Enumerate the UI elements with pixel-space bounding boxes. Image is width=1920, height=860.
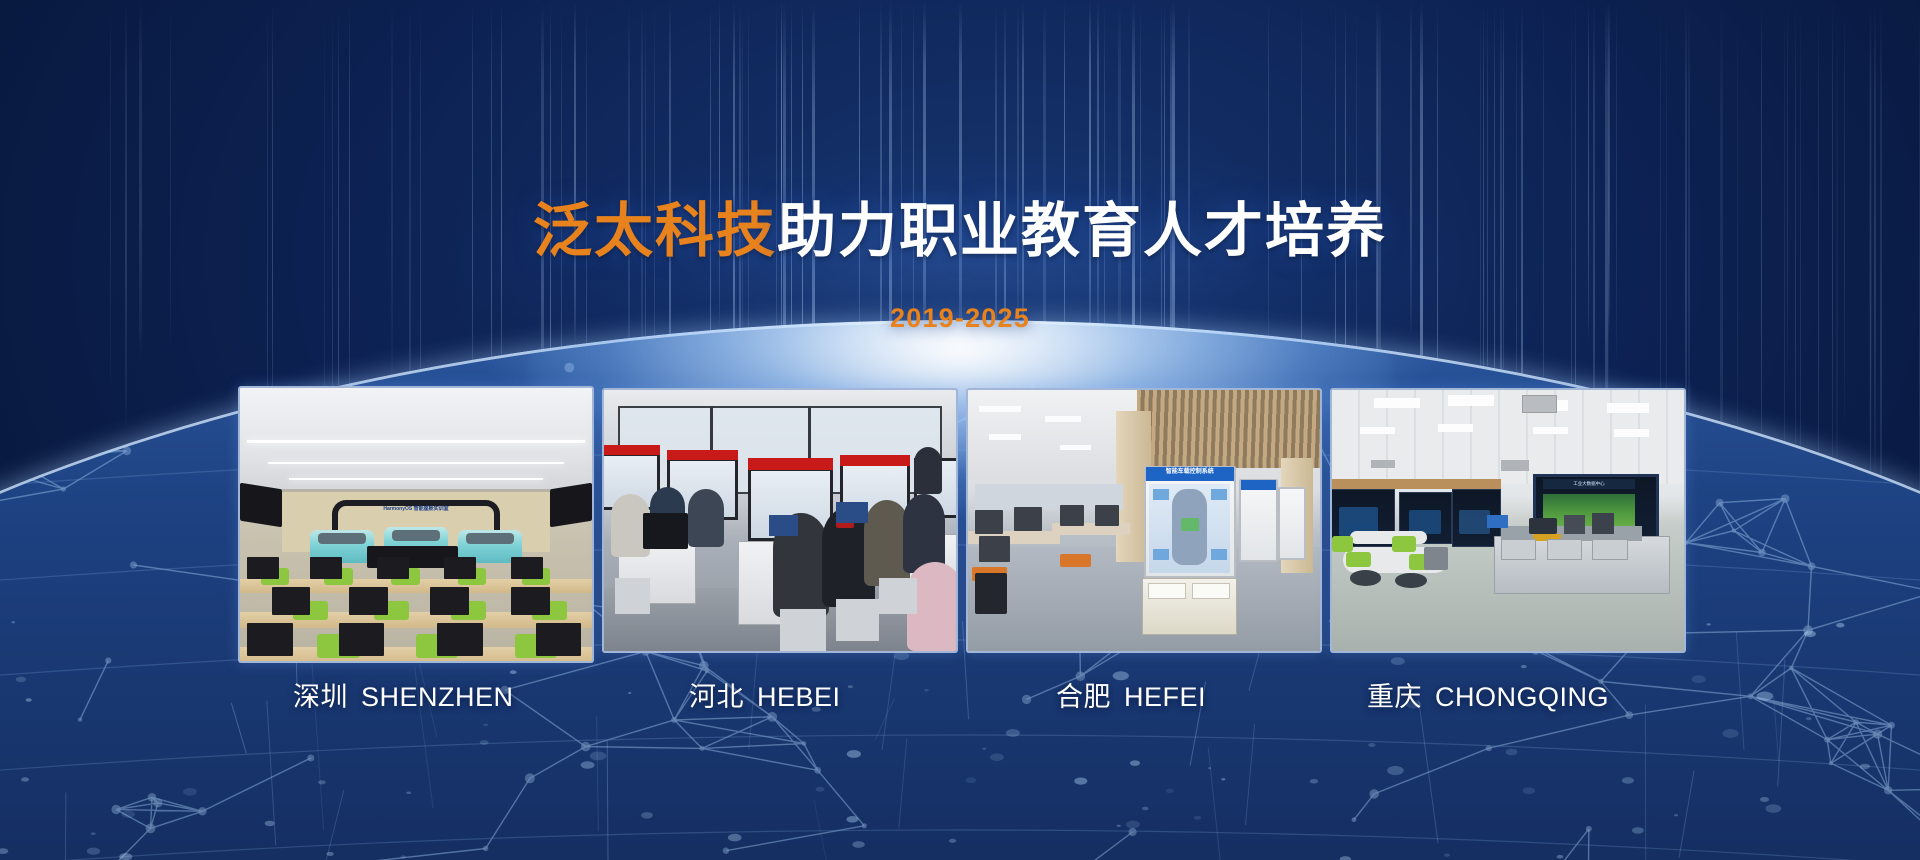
caption-hebei-en: HEBEI [757,682,841,712]
caption-hefei-en: HEFEI [1124,682,1206,712]
photo-chongqing-sign: 工业大数据中心 [1543,479,1635,489]
photo-hefei-sign: 智能车载控制系统 [1146,467,1234,481]
gallery-photo-card-shenzhen[interactable]: HarmonyOS 智能座舱实训室 [238,386,594,663]
title-brand: 泛太科技 [533,198,777,264]
page-title: 泛太科技助力职业教育人才培养 [0,202,1920,261]
caption-chongqing: 重庆CHONGQING [1367,675,1609,714]
banner-content: 泛太科技助力职业教育人才培养 2019-2025 HarmonyOS 智能座舱实… [0,0,1920,860]
photo-shenzhen: HarmonyOS 智能座舱实训室 [240,388,592,661]
title-rest: 助力职业教育人才培养 [777,198,1387,264]
photo-hebei [604,390,956,651]
gallery-photo-card-chongqing[interactable]: 工业大数据中心 [1330,388,1686,653]
photo-chongqing: 工业大数据中心 [1332,390,1684,651]
caption-shenzhen-zh: 深圳 [293,682,348,712]
caption-chongqing-zh: 重庆 [1367,682,1422,712]
caption-hefei-zh: 合肥 [1056,682,1111,712]
gallery-captions: 深圳SHENZHEN 河北HEBEI 合肥HEFEI 重庆CHONGQING [0,675,1920,719]
banner-stage: 泛太科技助力职业教育人才培养 2019-2025 HarmonyOS 智能座舱实… [0,0,1920,860]
photo-hefei: 智能车载控制系统 [968,390,1320,651]
caption-hebei: 河北HEBEI [689,675,841,714]
gallery-photo-card-hefei[interactable]: 智能车载控制系统 [966,388,1322,653]
caption-shenzhen-en: SHENZHEN [361,682,514,712]
title-subtitle: 2019-2025 [0,303,1920,334]
caption-hebei-zh: 河北 [689,682,744,712]
caption-chongqing-en: CHONGQING [1435,682,1609,712]
caption-hefei: 合肥HEFEI [1056,675,1206,714]
gallery-photo-card-hebei[interactable] [602,388,958,653]
photo-shenzhen-sign: HarmonyOS 智能座舱实训室 [342,507,490,521]
photo-gallery: HarmonyOS 智能座舱实训室 [238,388,1688,663]
caption-shenzhen: 深圳SHENZHEN [293,675,514,714]
